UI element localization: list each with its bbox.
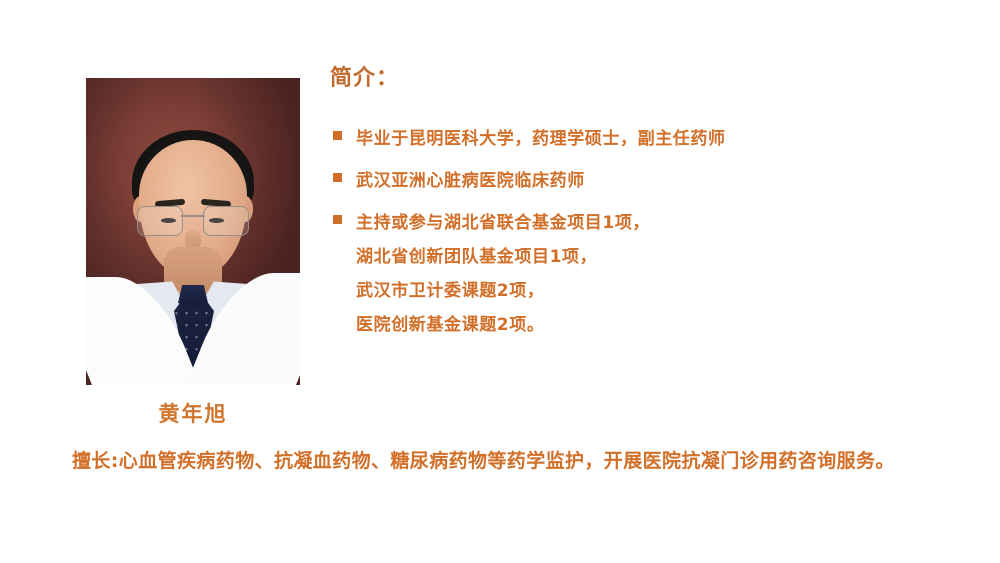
portrait-background	[86, 78, 300, 385]
square-bullet-icon	[333, 173, 342, 182]
list-item: 主持或参与湖北省联合基金项目1项， 湖北省创新团队基金项目1项， 武汉市卫计委课…	[333, 206, 963, 342]
square-bullet-icon	[333, 215, 342, 224]
list-item: 武汉亚洲心脏病医院临床药师	[333, 164, 963, 198]
person-name: 黄年旭	[86, 398, 300, 428]
intro-heading: 简介：	[330, 60, 399, 92]
list-item-line: 主持或参与湖北省联合基金项目1项，	[356, 206, 963, 240]
list-item: 毕业于昆明医科大学，药理学硕士，副主任药师	[333, 122, 963, 156]
list-item-line: 武汉市卫计委课题2项，	[356, 274, 963, 308]
list-item-line: 武汉亚洲心脏病医院临床药师	[356, 164, 963, 198]
glasses-lens-left	[137, 206, 183, 236]
portrait-necktie-knot	[178, 285, 208, 307]
glasses-bridge	[181, 215, 205, 217]
intro-bullet-list: 毕业于昆明医科大学，药理学硕士，副主任药师 武汉亚洲心脏病医院临床药师 主持或参…	[333, 122, 963, 350]
list-item-body: 毕业于昆明医科大学，药理学硕士，副主任药师	[356, 122, 963, 156]
glasses-lens-right	[203, 206, 249, 236]
portrait-photo	[86, 78, 300, 385]
slide-canvas: 黄年旭 简介： 毕业于昆明医科大学，药理学硕士，副主任药师 武汉亚洲心脏病医院临…	[0, 0, 1000, 563]
list-item-body: 武汉亚洲心脏病医院临床药师	[356, 164, 963, 198]
square-bullet-icon	[333, 131, 342, 140]
list-item-line: 湖北省创新团队基金项目1项，	[356, 240, 963, 274]
list-item-body: 主持或参与湖北省联合基金项目1项， 湖北省创新团队基金项目1项， 武汉市卫计委课…	[356, 206, 963, 342]
specialty-text: 擅长:心血管疾病药物、抗凝血药物、糖尿病药物等药学监护，开展医院抗凝门诊用药咨询…	[72, 446, 952, 476]
list-item-line: 毕业于昆明医科大学，药理学硕士，副主任药师	[356, 122, 963, 156]
list-item-line: 医院创新基金课题2项。	[356, 308, 963, 342]
